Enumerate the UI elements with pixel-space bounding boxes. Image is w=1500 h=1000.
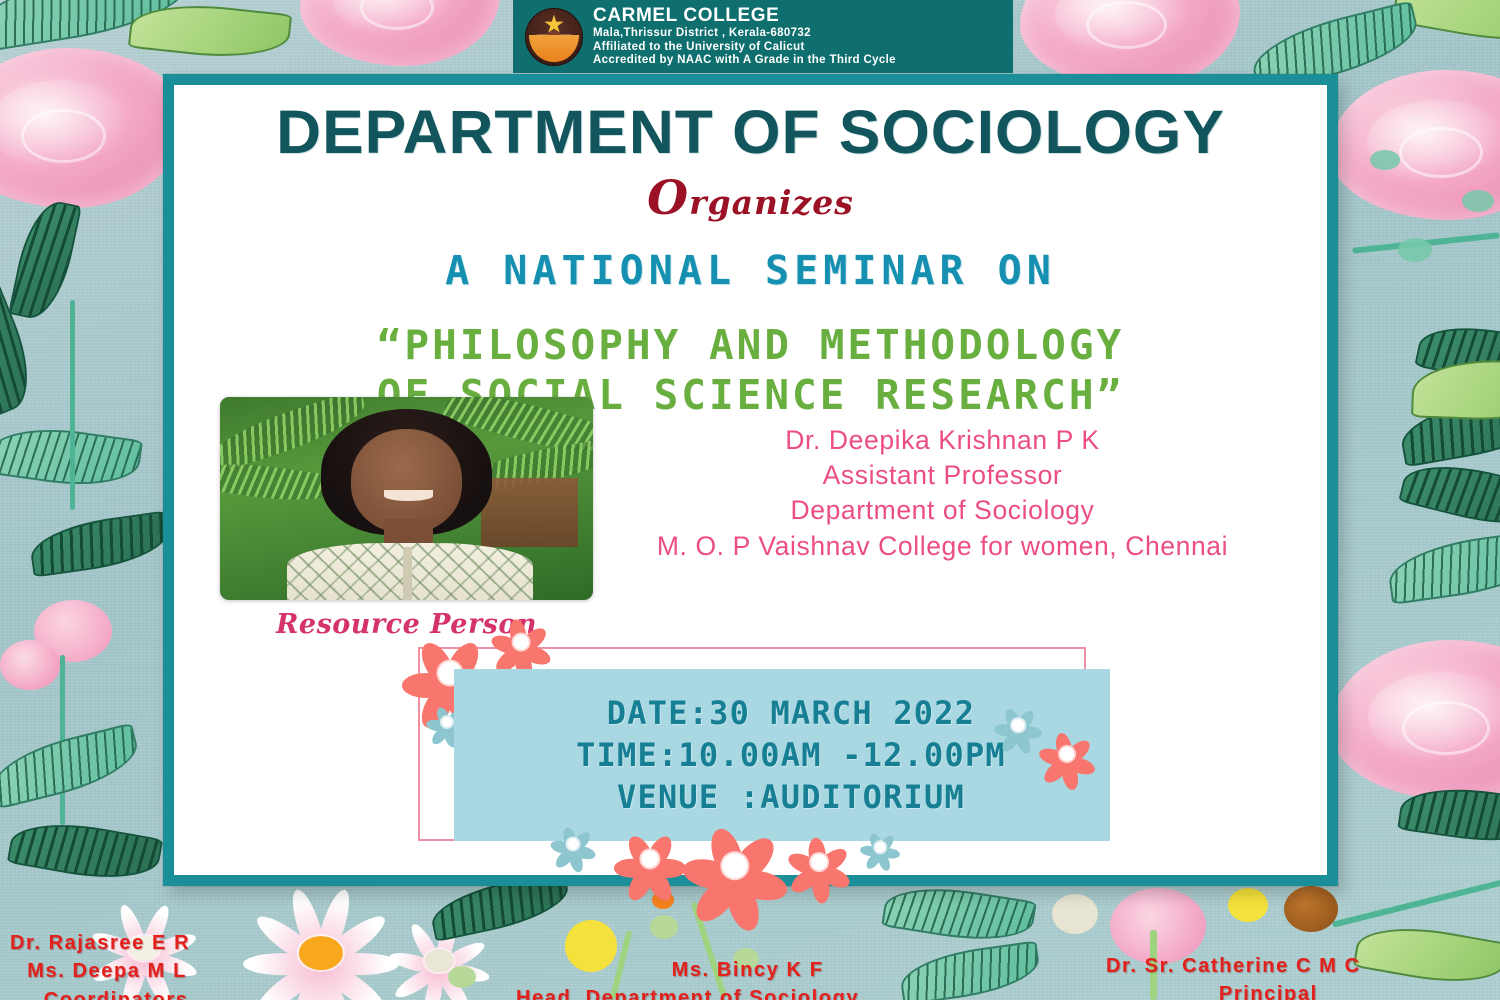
coral-flower-icon xyxy=(1038,725,1096,783)
credit-coordinators: Dr. Rajasree E R Ms. Deepa M L Coordinat… xyxy=(6,929,190,1000)
event-venue: VENUE :AUDITORIUM xyxy=(472,776,1110,818)
teal-flower-icon xyxy=(994,701,1042,749)
principal-name: Dr. Sr. Catherine C M C xyxy=(1106,952,1361,980)
speaker-section: Resource Person Dr. Deepika Krishnan P K… xyxy=(174,397,1327,640)
college-accreditation: Accredited by NAAC with A Grade in the T… xyxy=(593,54,896,68)
college-header-bar: CARMEL COLLEGE Mala,Thrissur District , … xyxy=(513,0,1013,73)
coordinator-name-1: Dr. Rajasree E R xyxy=(6,929,190,957)
teal-flower-icon xyxy=(860,827,900,867)
principal-role: Principal xyxy=(1106,980,1361,1000)
speaker-department: Department of Sociology xyxy=(594,493,1291,528)
white-flower-icon xyxy=(1052,894,1098,934)
credit-head-of-department: Ms. Bincy K F Head, Department of Sociol… xyxy=(516,956,859,1000)
page-title: DEPARTMENT OF SOCIOLOGY xyxy=(162,97,1338,167)
speaker-designation: Assistant Professor xyxy=(594,458,1291,493)
face xyxy=(351,429,463,533)
bud-dot-icon xyxy=(448,966,476,988)
college-header-text: CARMEL COLLEGE Mala,Thrissur District , … xyxy=(593,5,896,68)
bud-dot-icon xyxy=(1398,238,1432,262)
brown-flower-icon xyxy=(1284,886,1338,932)
yellow-flower-icon xyxy=(1228,888,1268,922)
credit-principal: Dr. Sr. Catherine C M C Principal xyxy=(1106,952,1361,1000)
speaker-details: Dr. Deepika Krishnan P K Assistant Profe… xyxy=(594,397,1327,564)
stem-icon xyxy=(70,300,75,510)
coordinator-name-2: Ms. Deepa M L xyxy=(6,957,190,985)
organizes-capital: O xyxy=(647,171,689,226)
background-wall xyxy=(481,478,578,547)
seminar-subtitle: A NATIONAL SEMINAR ON xyxy=(174,248,1327,294)
event-details-section: DATE:30 MARCH 2022 TIME:10.00AM -12.00PM… xyxy=(402,637,1102,862)
hod-name: Ms. Bincy K F xyxy=(516,956,859,984)
crescent-icon xyxy=(529,35,578,62)
carmel-college-emblem-icon xyxy=(525,8,583,66)
shirt-placket xyxy=(403,547,412,600)
organizes-rest: rganizes xyxy=(689,183,854,222)
coordinator-role: Coordinators xyxy=(6,986,190,1000)
coral-flower-icon xyxy=(786,829,852,895)
daisy-flower-icon xyxy=(236,888,406,1000)
resource-person-photo xyxy=(220,397,593,600)
smile xyxy=(384,490,432,500)
bud-dot-icon xyxy=(1370,150,1400,170)
coral-flower-icon xyxy=(682,813,788,919)
poster-card: DEPARTMENT OF SOCIOLOGY Organizes A NATI… xyxy=(163,74,1338,886)
college-name: CARMEL COLLEGE xyxy=(593,5,896,27)
coral-flower-icon xyxy=(490,611,552,673)
bud-dot-icon xyxy=(1462,190,1494,212)
college-address: Mala,Thrissur District , Kerala-680732 xyxy=(593,27,896,41)
bud-dot-icon xyxy=(650,915,678,939)
coral-flower-icon xyxy=(614,823,686,895)
hod-role: Head, Department of Sociology xyxy=(516,984,859,1000)
speaker-institution: M. O. P Vaishnav College for women, Chen… xyxy=(594,529,1291,564)
teal-flower-icon xyxy=(550,821,596,867)
seminar-poster: CARMEL COLLEGE Mala,Thrissur District , … xyxy=(0,0,1500,1000)
seminar-topic-line-1: “PHILOSOPHY AND METHODOLOGY xyxy=(174,320,1327,370)
organizes-label: Organizes xyxy=(174,171,1327,226)
speaker-photo-column: Resource Person xyxy=(174,397,594,640)
college-affiliation: Affiliated to the University of Calicut xyxy=(593,41,896,55)
speaker-name: Dr. Deepika Krishnan P K xyxy=(594,423,1291,458)
flower-bud-icon xyxy=(0,640,60,690)
